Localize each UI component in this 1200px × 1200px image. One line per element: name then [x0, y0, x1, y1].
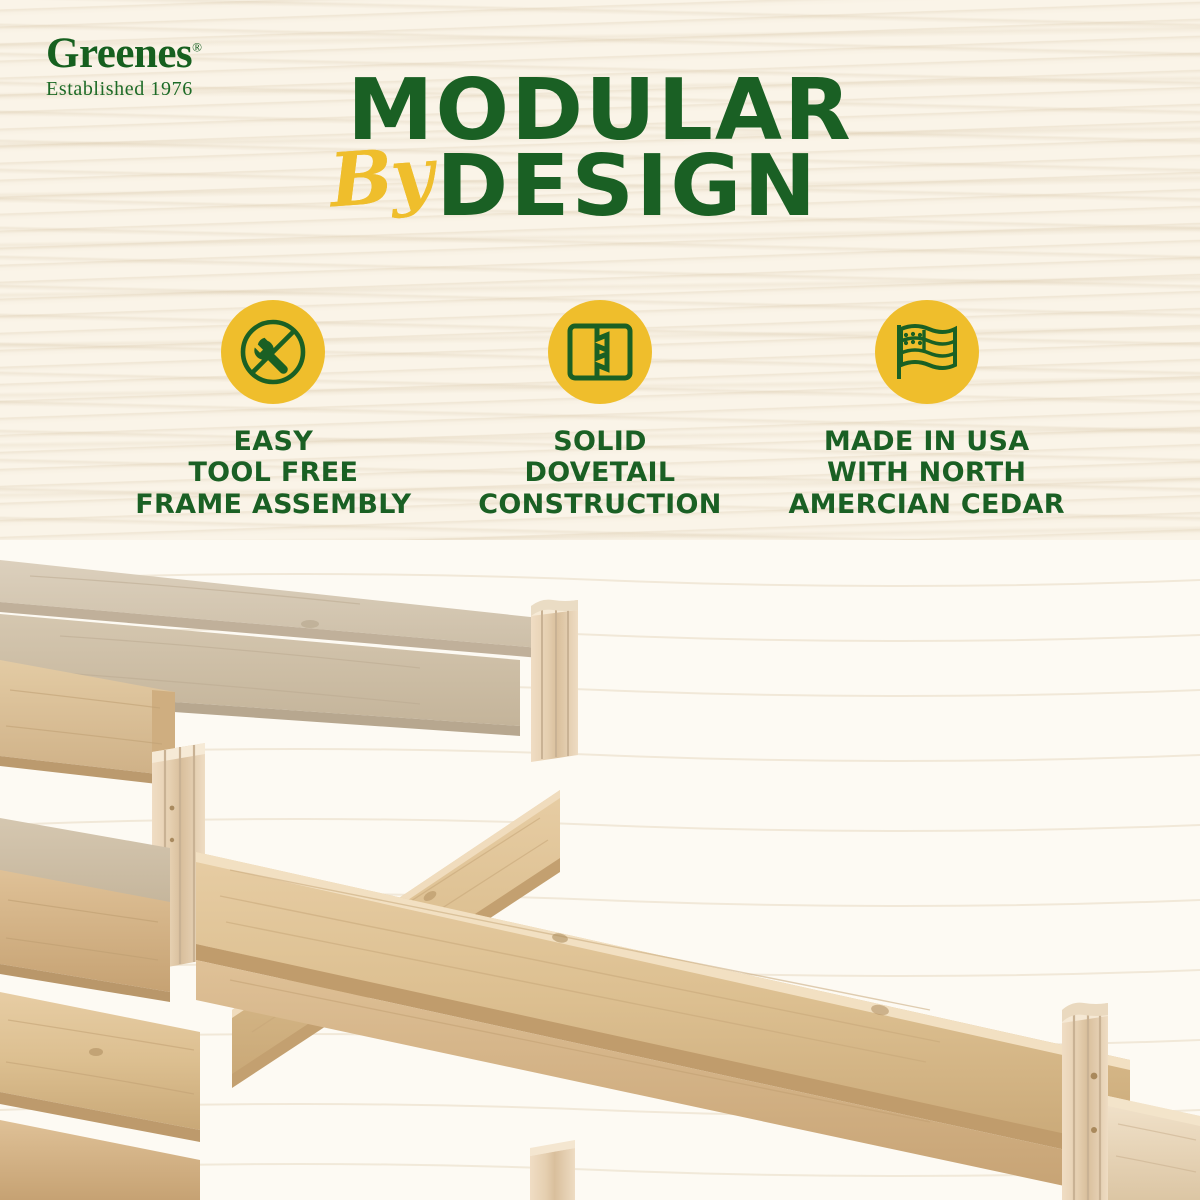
dovetail-joint-icon — [567, 323, 633, 381]
usa-flag-icon — [892, 321, 962, 383]
feature-list: EASY TOOL FREE FRAME ASSEMBLY SOLID DOVE… — [0, 300, 1200, 520]
body-segment-0: OUR — [648, 675, 724, 709]
no-tools-icon — [237, 316, 309, 388]
dovetail-badge — [548, 300, 652, 404]
page-title: MODULAR By DESIGN — [0, 72, 1200, 226]
poster-canvas: Greenes® Established 1976 MODULAR By DES… — [0, 0, 1200, 1200]
feature-caption: SOLID DOVETAIL CONSTRUCTION — [450, 426, 750, 520]
body-segment-5: STACKED — [697, 801, 849, 835]
feature-item-tool-free: EASY TOOL FREE FRAME ASSEMBLY — [123, 300, 423, 520]
registered-trademark-icon: ® — [192, 40, 202, 55]
usa-flag-badge — [875, 300, 979, 404]
headline-line-2: DESIGN — [436, 148, 818, 226]
headline-script-word: By — [328, 141, 434, 216]
brand-wordmark: Greenes® — [46, 32, 202, 75]
no-tools-badge — [221, 300, 325, 404]
feature-caption: EASY TOOL FREE FRAME ASSEMBLY — [123, 426, 423, 520]
body-segment-6: OR — [849, 801, 912, 835]
feature-item-dovetail: SOLID DOVETAIL CONSTRUCTION — [450, 300, 750, 520]
corner-post-upper — [530, 1140, 575, 1156]
brand-name: Greenes — [46, 30, 192, 77]
body-paragraph: OUR GARDEN BEDS ARE BUILT WITH 4-WAY ROU… — [648, 672, 1128, 881]
feature-item-made-in-usa: MADE IN USA WITH NORTH AMERCIAN CEDAR — [777, 300, 1077, 520]
body-segment-1: GARDEN BEDS — [724, 675, 964, 709]
headline-line-2-wrapper: By DESIGN — [0, 148, 1200, 226]
feature-caption: MADE IN USA WITH NORTH AMERCIAN CEDAR — [777, 426, 1077, 520]
